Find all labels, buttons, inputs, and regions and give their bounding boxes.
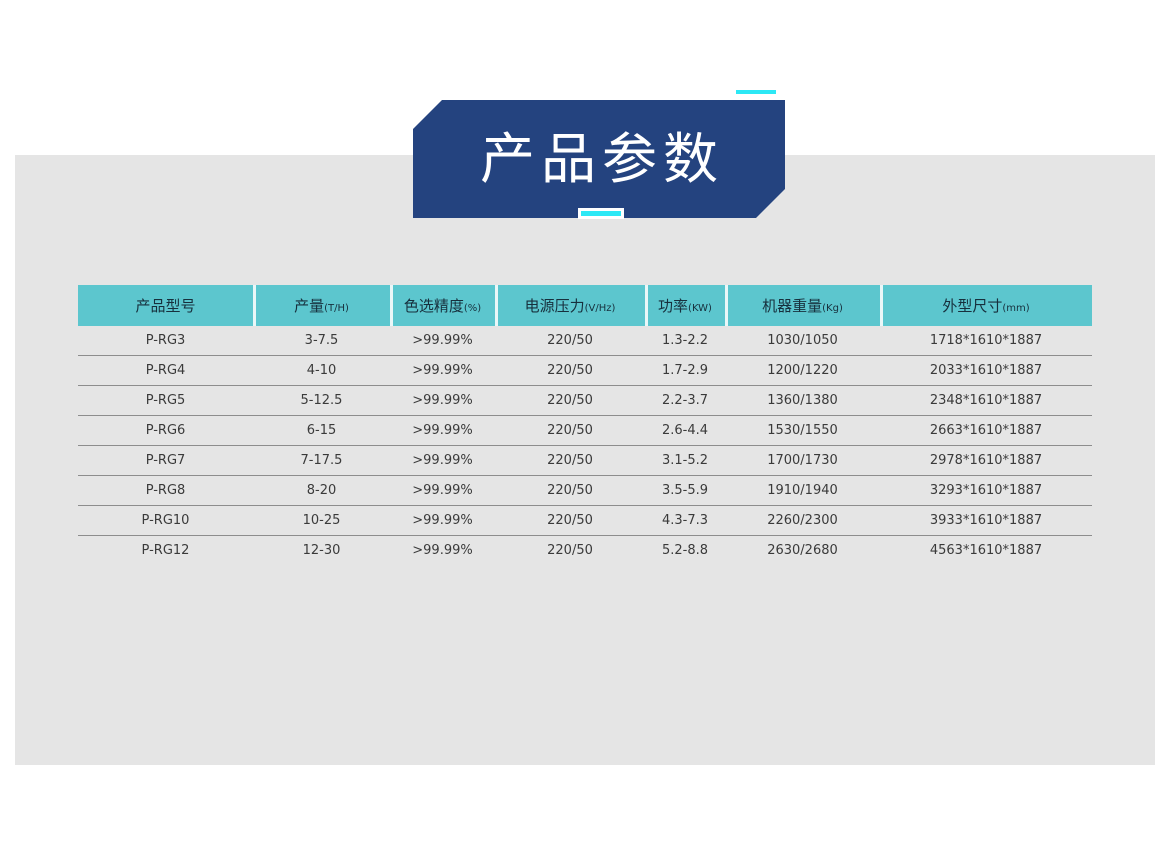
- cell-size: 1718*1610*1887: [880, 326, 1092, 356]
- cell-power: 4.3-7.3: [645, 506, 725, 536]
- cell-accuracy: >99.99%: [390, 446, 495, 476]
- table-row: P-RG5 5-12.5 >99.99% 220/50 2.2-3.7 1360…: [78, 386, 1092, 416]
- cell-size: 4563*1610*1887: [880, 536, 1092, 566]
- cell-capacity: 8-20: [253, 476, 390, 506]
- cell-weight: 1700/1730: [725, 446, 880, 476]
- cell-model: P-RG7: [78, 446, 253, 476]
- cell-weight: 1360/1380: [725, 386, 880, 416]
- cell-voltage: 220/50: [495, 536, 645, 566]
- column-header-unit: (%): [464, 303, 481, 314]
- cell-capacity: 7-17.5: [253, 446, 390, 476]
- cell-model: P-RG12: [78, 536, 253, 566]
- cell-weight: 2630/2680: [725, 536, 880, 566]
- cell-accuracy: >99.99%: [390, 536, 495, 566]
- cell-capacity: 10-25: [253, 506, 390, 536]
- cell-capacity: 4-10: [253, 356, 390, 386]
- column-header-unit: (Kg): [822, 303, 843, 314]
- table-row: P-RG6 6-15 >99.99% 220/50 2.6-4.4 1530/1…: [78, 416, 1092, 446]
- table-row: P-RG8 8-20 >99.99% 220/50 3.5-5.9 1910/1…: [78, 476, 1092, 506]
- column-header-voltage: 电源压力(V/Hz): [495, 285, 645, 326]
- column-header-accuracy: 色选精度(%): [390, 285, 495, 326]
- column-header-model: 产品型号: [78, 285, 253, 326]
- cell-accuracy: >99.99%: [390, 506, 495, 536]
- column-header-label: 产量: [294, 297, 324, 315]
- cell-power: 2.2-3.7: [645, 386, 725, 416]
- column-header-label: 色选精度: [404, 297, 464, 315]
- cell-size: 3933*1610*1887: [880, 506, 1092, 536]
- column-header-label: 电源压力: [525, 297, 585, 315]
- cell-model: P-RG8: [78, 476, 253, 506]
- table-row: P-RG10 10-25 >99.99% 220/50 4.3-7.3 2260…: [78, 506, 1092, 536]
- cell-voltage: 220/50: [495, 326, 645, 356]
- cell-weight: 1910/1940: [725, 476, 880, 506]
- page-title: 产品参数: [480, 132, 724, 187]
- table-header-row: 产品型号 产量(T/H) 色选精度(%) 电源压力(V/Hz) 功率(KW) 机…: [78, 285, 1092, 326]
- cell-voltage: 220/50: [495, 416, 645, 446]
- accent-bar-top-icon: [733, 87, 779, 97]
- column-header-unit: (T/H): [324, 303, 349, 314]
- cell-weight: 2260/2300: [725, 506, 880, 536]
- cell-accuracy: >99.99%: [390, 416, 495, 446]
- cell-size: 2663*1610*1887: [880, 416, 1092, 446]
- cell-power: 1.3-2.2: [645, 326, 725, 356]
- cell-weight: 1200/1220: [725, 356, 880, 386]
- cell-accuracy: >99.99%: [390, 476, 495, 506]
- cell-size: 3293*1610*1887: [880, 476, 1092, 506]
- accent-bar-bottom-icon: [578, 208, 624, 219]
- cell-accuracy: >99.99%: [390, 326, 495, 356]
- cell-capacity: 5-12.5: [253, 386, 390, 416]
- column-header-unit: (KW): [688, 303, 712, 314]
- column-header-label: 外型尺寸: [942, 297, 1002, 315]
- column-header-weight: 机器重量(Kg): [725, 285, 880, 326]
- table-row: P-RG7 7-17.5 >99.99% 220/50 3.1-5.2 1700…: [78, 446, 1092, 476]
- cell-size: 2978*1610*1887: [880, 446, 1092, 476]
- cell-weight: 1530/1550: [725, 416, 880, 446]
- cell-model: P-RG3: [78, 326, 253, 356]
- table-row: P-RG4 4-10 >99.99% 220/50 1.7-2.9 1200/1…: [78, 356, 1092, 386]
- cell-capacity: 12-30: [253, 536, 390, 566]
- column-header-unit: (mm): [1002, 303, 1029, 314]
- cell-power: 1.7-2.9: [645, 356, 725, 386]
- column-header-label: 产品型号: [135, 297, 195, 315]
- cell-power: 2.6-4.4: [645, 416, 725, 446]
- cell-voltage: 220/50: [495, 386, 645, 416]
- cell-power: 3.1-5.2: [645, 446, 725, 476]
- cell-model: P-RG4: [78, 356, 253, 386]
- cell-capacity: 3-7.5: [253, 326, 390, 356]
- cell-capacity: 6-15: [253, 416, 390, 446]
- cell-model: P-RG6: [78, 416, 253, 446]
- column-header-power: 功率(KW): [645, 285, 725, 326]
- cell-power: 3.5-5.9: [645, 476, 725, 506]
- column-header-capacity: 产量(T/H): [253, 285, 390, 326]
- column-header-label: 机器重量: [762, 297, 822, 315]
- cell-voltage: 220/50: [495, 506, 645, 536]
- column-header-size: 外型尺寸(mm): [880, 285, 1092, 326]
- cell-size: 2033*1610*1887: [880, 356, 1092, 386]
- product-parameters-table: 产品型号 产量(T/H) 色选精度(%) 电源压力(V/Hz) 功率(KW) 机…: [78, 285, 1092, 565]
- cell-voltage: 220/50: [495, 446, 645, 476]
- cell-model: P-RG10: [78, 506, 253, 536]
- column-header-unit: (V/Hz): [585, 303, 616, 314]
- cell-model: P-RG5: [78, 386, 253, 416]
- cell-voltage: 220/50: [495, 356, 645, 386]
- cell-accuracy: >99.99%: [390, 356, 495, 386]
- table-row: P-RG12 12-30 >99.99% 220/50 5.2-8.8 2630…: [78, 536, 1092, 566]
- cell-weight: 1030/1050: [725, 326, 880, 356]
- cell-size: 2348*1610*1887: [880, 386, 1092, 416]
- column-header-label: 功率: [658, 297, 688, 315]
- cell-accuracy: >99.99%: [390, 386, 495, 416]
- cell-voltage: 220/50: [495, 476, 645, 506]
- page-title-banner: 产品参数: [413, 100, 785, 218]
- cell-power: 5.2-8.8: [645, 536, 725, 566]
- table-row: P-RG3 3-7.5 >99.99% 220/50 1.3-2.2 1030/…: [78, 326, 1092, 356]
